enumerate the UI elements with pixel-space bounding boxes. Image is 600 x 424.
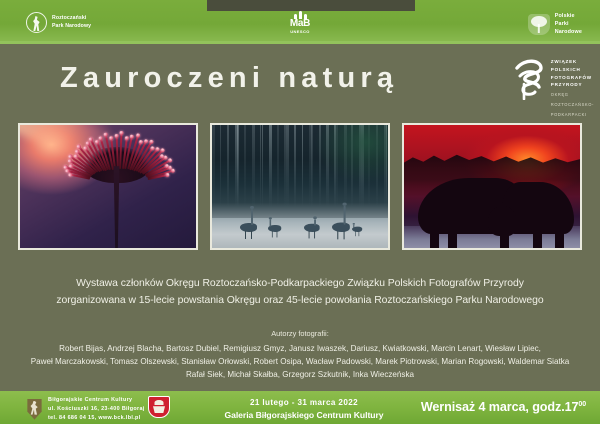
zpfp-logo: ZWIĄZEK POLSKICH FOTOGRAFÓW PRZYRODY OKR…	[511, 54, 594, 118]
zpfp-mark-icon	[511, 54, 547, 100]
mab-people-icon	[293, 11, 308, 19]
bck-organizer-block: Biłgorajskie Centrum Kultury ul. Kościus…	[26, 396, 145, 422]
bck-contact[interactable]: tel. 84 686 04 15, www.bck.lbl.pl	[48, 414, 145, 423]
poster: Roztoczański Park Narodowy MaB UNESCO Po…	[0, 0, 600, 424]
polskie-parki-narodowe-logo: Polskie Parki Narodowe	[528, 12, 582, 36]
photo-bison: Bartosz Dubiel	[402, 123, 582, 250]
ppn-logo-line3: Narodowe	[555, 28, 582, 36]
zpfp-line4: PRZYRODY	[551, 81, 594, 89]
authors-list: Robert Bijas, Andrzej Blacha, Bartosz Du…	[0, 342, 600, 381]
zpfp-line2: POLSKICH	[551, 66, 594, 74]
description-line1: Wystawa członków Okręgu Roztoczańsko-Pod…	[0, 275, 600, 292]
zpfp-line6: ROZTOCZAŃSKO-	[551, 102, 594, 109]
description-line2: zorganizowana w 15-lecie powstania Okręg…	[0, 292, 600, 309]
authors-label: Autorzy fotografii:	[0, 329, 600, 339]
zpfp-line7: PODKARPACKI	[551, 112, 594, 119]
vernissage-minutes: 00	[578, 401, 586, 408]
zpfp-line5: OKRĘG	[551, 92, 594, 99]
ppn-tree-icon	[528, 14, 550, 35]
zpfp-line1: ZWIĄZEK	[551, 58, 594, 66]
mab-unesco-logo: MaB UNESCO	[0, 11, 600, 35]
poster-title: Zauroczeni naturą	[60, 62, 398, 95]
exhibition-venue: Galeria Biłgorajskiego Centrum Kultury	[196, 409, 412, 421]
vernissage-info: Wernisaż 4 marca, godz.1700	[421, 400, 586, 414]
authors-line2: Paweł Marczakowski, Tomasz Olszewski, St…	[0, 355, 600, 368]
authors-line1: Robert Bijas, Andrzej Blacha, Bartosz Du…	[0, 342, 600, 355]
exhibition-dates: 21 lutego - 31 marca 2022	[196, 397, 412, 409]
exhibition-dates-block: 21 lutego - 31 marca 2022 Galeria Biłgor…	[196, 397, 412, 422]
bck-emblem-icon	[26, 399, 43, 420]
header-notch	[207, 0, 415, 11]
ppn-logo-line1: Polskie	[555, 12, 582, 20]
bilgoraj-coat-of-arms-icon	[148, 396, 170, 418]
photo-cranes: Grzegorz Szkutnik	[210, 123, 390, 250]
mab-unesco-label: UNESCO	[290, 30, 310, 35]
exhibition-description: Wystawa członków Okręgu Roztoczańsko-Pod…	[0, 275, 600, 309]
authors-line3: Rafał Siek, Michał Skałba, Grzegorz Szku…	[0, 368, 600, 381]
ppn-logo-line2: Parki	[555, 20, 582, 28]
mab-wordmark: MaB	[290, 19, 310, 29]
bck-name: Biłgorajskie Centrum Kultury	[48, 396, 145, 405]
footer-bar: Biłgorajskie Centrum Kultury ul. Kościus…	[0, 391, 600, 424]
photo-gallery: Janusz Kwiatkowski Grzegorz Szkutnik Bar	[18, 123, 582, 250]
header-bar: Roztoczański Park Narodowy MaB UNESCO Po…	[0, 0, 600, 44]
zpfp-line3: FOTOGRAFÓW	[551, 74, 594, 82]
header-underline	[0, 41, 600, 44]
bck-address: ul. Kościuszki 16, 23-400 Biłgoraj	[48, 405, 145, 414]
vernissage-text: Wernisaż 4 marca, godz.17	[421, 400, 579, 414]
photo-sundew: Janusz Kwiatkowski	[18, 123, 198, 250]
